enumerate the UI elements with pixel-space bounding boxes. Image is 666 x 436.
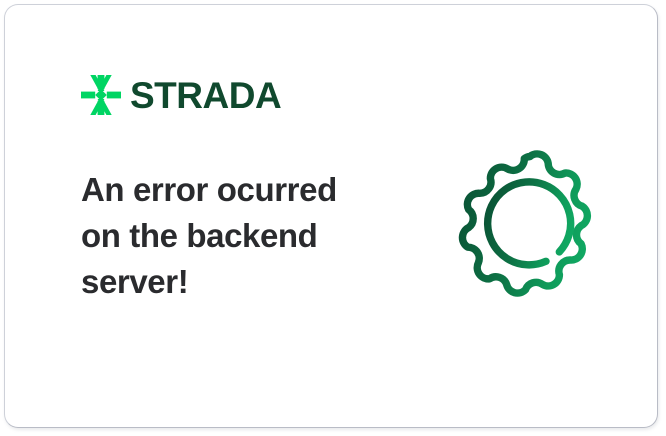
error-page: STRADA An error ocurred on the backend s… <box>0 0 666 436</box>
error-card: STRADA An error ocurred on the backend s… <box>4 4 658 428</box>
gear-icon <box>449 146 611 308</box>
brand-wordmark: STRADA <box>130 77 281 114</box>
strada-asterisk-icon <box>81 75 121 115</box>
error-headline: An error ocurred on the backend server! <box>81 167 381 305</box>
brand-logo: STRADA <box>81 75 281 115</box>
